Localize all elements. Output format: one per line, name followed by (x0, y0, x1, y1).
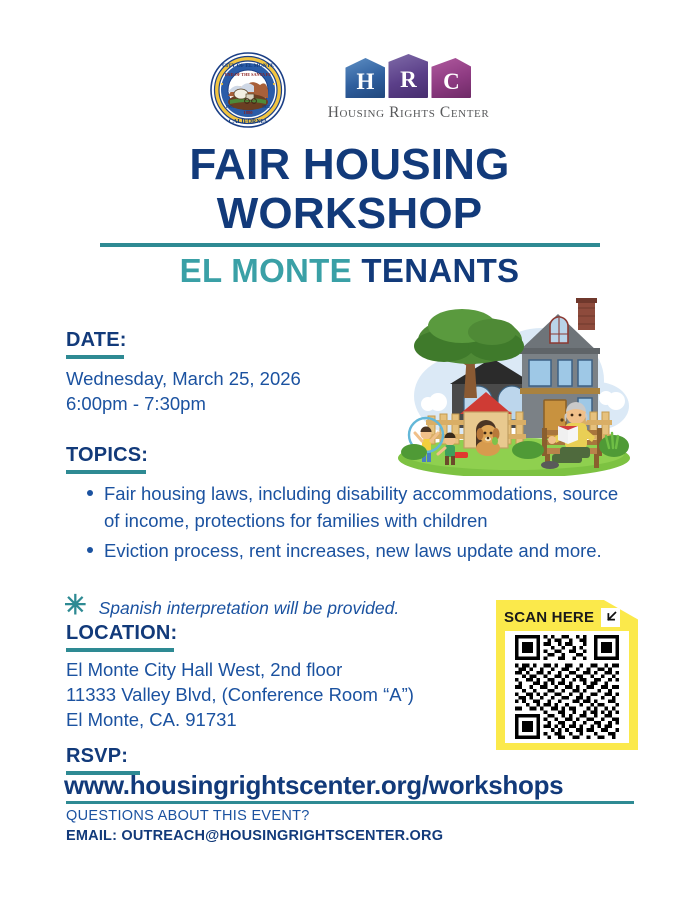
footer-email[interactable]: EMAIL: OUTREACH@HOUSINGRIGHTSCENTER.ORG (66, 828, 443, 844)
svg-text:1880: 1880 (243, 110, 253, 115)
footer-divider (66, 801, 634, 804)
logo-row: CITY OF EL MONTE END OF THE SANTA FE INC… (0, 52, 699, 128)
arrow-down-left-icon (601, 608, 620, 627)
hrc-letter-c-icon: C (431, 58, 471, 98)
hrc-logo: H R C Housing Rights Center (328, 58, 490, 122)
rsvp-url-link[interactable]: www.housingrightscenter.org/workshops (64, 770, 563, 801)
svg-text:END OF THE SANTA FE: END OF THE SANTA FE (224, 72, 271, 77)
scan-here-card[interactable]: SCAN HERE (496, 600, 638, 750)
hrc-wordmark: Housing Rights Center (328, 104, 490, 122)
location-details: El Monte City Hall West, 2nd floor 11333… (66, 658, 486, 732)
list-item: Eviction process, rent increases, new la… (104, 537, 634, 564)
hrc-letter-h: H (357, 69, 375, 95)
title-line-2: WORKSHOP (0, 189, 699, 238)
neighborhood-house-illustration (392, 288, 636, 476)
rsvp-heading-label: RSVP: (66, 745, 128, 767)
date-heading: DATE: (66, 329, 127, 359)
location-line-1: El Monte City Hall West, 2nd floor (66, 658, 486, 683)
list-item: Fair housing laws, including disability … (104, 480, 634, 534)
hrc-letter-r: R (400, 67, 417, 93)
subtitle-rest: TENANTS (352, 252, 519, 289)
svg-text:CALIFORNIA: CALIFORNIA (228, 119, 267, 125)
page-subtitle: EL MONTE TENANTS (0, 252, 699, 290)
hrc-house-marks: H R C (345, 58, 471, 98)
date-line-1: Wednesday, March 25, 2026 (66, 367, 396, 392)
qr-code-frame (505, 631, 629, 743)
flyer-page: CITY OF EL MONTE END OF THE SANTA FE INC… (0, 0, 699, 904)
location-heading-label: LOCATION: (66, 622, 177, 644)
scan-here-label: SCAN HERE (504, 609, 594, 626)
hrc-letter-c: C (443, 69, 460, 95)
title-divider (100, 243, 600, 247)
svg-text:1912: 1912 (262, 104, 270, 109)
date-line-2: 6:00pm - 7:30pm (66, 392, 396, 417)
page-title: FAIR HOUSING WORKSHOP (0, 140, 699, 239)
location-heading: LOCATION: (66, 622, 177, 652)
svg-text:CITY OF EL MONTE: CITY OF EL MONTE (222, 63, 274, 69)
location-heading-underline (66, 648, 174, 652)
date-heading-label: DATE: (66, 329, 127, 351)
interpretation-note-text: Spanish interpretation will be provided. (99, 598, 400, 619)
scan-here-tab: SCAN HERE (504, 606, 630, 628)
topics-heading-label: TOPICS: (66, 444, 148, 466)
city-of-el-monte-seal-icon: CITY OF EL MONTE END OF THE SANTA FE INC… (210, 52, 286, 128)
svg-text:INC.: INC. (226, 104, 234, 109)
date-heading-underline (66, 355, 124, 359)
qr-code[interactable] (515, 635, 619, 739)
subtitle-highlight: EL MONTE (180, 252, 352, 289)
date-details: Wednesday, March 25, 2026 6:00pm - 7:30p… (66, 367, 396, 417)
interpretation-note: ✳ Spanish interpretation will be provide… (64, 592, 484, 619)
topics-heading: TOPICS: (66, 444, 148, 474)
title-line-1: FAIR HOUSING (0, 140, 699, 189)
topics-heading-underline (66, 470, 146, 474)
footer-questions: QUESTIONS ABOUT THIS EVENT? (66, 808, 310, 824)
asterisk-icon: ✳ (64, 592, 87, 619)
topics-list: Fair housing laws, including disability … (78, 480, 634, 567)
location-line-2: 11333 Valley Blvd, (Conference Room “A”) (66, 683, 486, 708)
hrc-letter-r-icon: R (388, 54, 428, 98)
hrc-letter-h-icon: H (345, 58, 385, 98)
location-line-3: El Monte, CA. 91731 (66, 708, 486, 733)
